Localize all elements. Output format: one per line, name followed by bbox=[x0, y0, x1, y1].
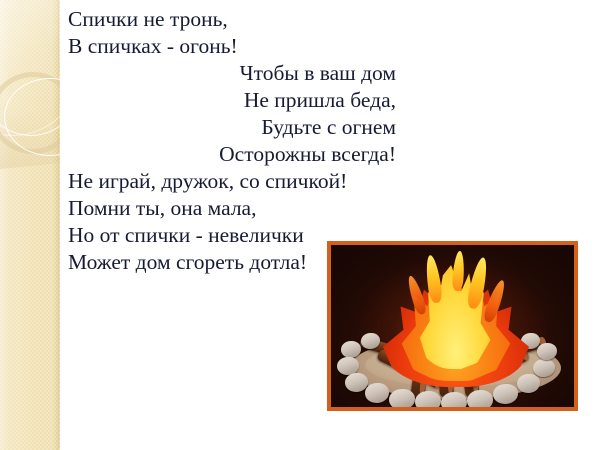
slide-canvas: Спички не тронь, В спичках - огонь! Чтоб… bbox=[0, 0, 600, 450]
poem-line-7: Не играй, дружок, со спичкой! bbox=[68, 168, 398, 195]
left-decorative-band bbox=[0, 0, 60, 450]
poem-line-1: Спички не тронь, bbox=[68, 6, 398, 33]
stone bbox=[415, 391, 441, 411]
poem-line-5: Будьте с огнем bbox=[68, 114, 398, 141]
campfire-illustration bbox=[327, 241, 578, 411]
poem-line-3: Чтобы в ваш дом bbox=[68, 60, 398, 87]
poem-text-block: Спички не тронь, В спичках - огонь! Чтоб… bbox=[68, 6, 398, 276]
poem-line-6: Осторожны всегда! bbox=[68, 141, 398, 168]
campfire-scene bbox=[331, 245, 574, 407]
poem-line-4: Не пришла беда, bbox=[68, 87, 398, 114]
poem-line-2: В спичках - огонь! bbox=[68, 33, 398, 60]
stone bbox=[467, 390, 493, 411]
stone bbox=[441, 392, 467, 411]
poem-line-8: Помни ты, она мала, bbox=[68, 195, 398, 222]
